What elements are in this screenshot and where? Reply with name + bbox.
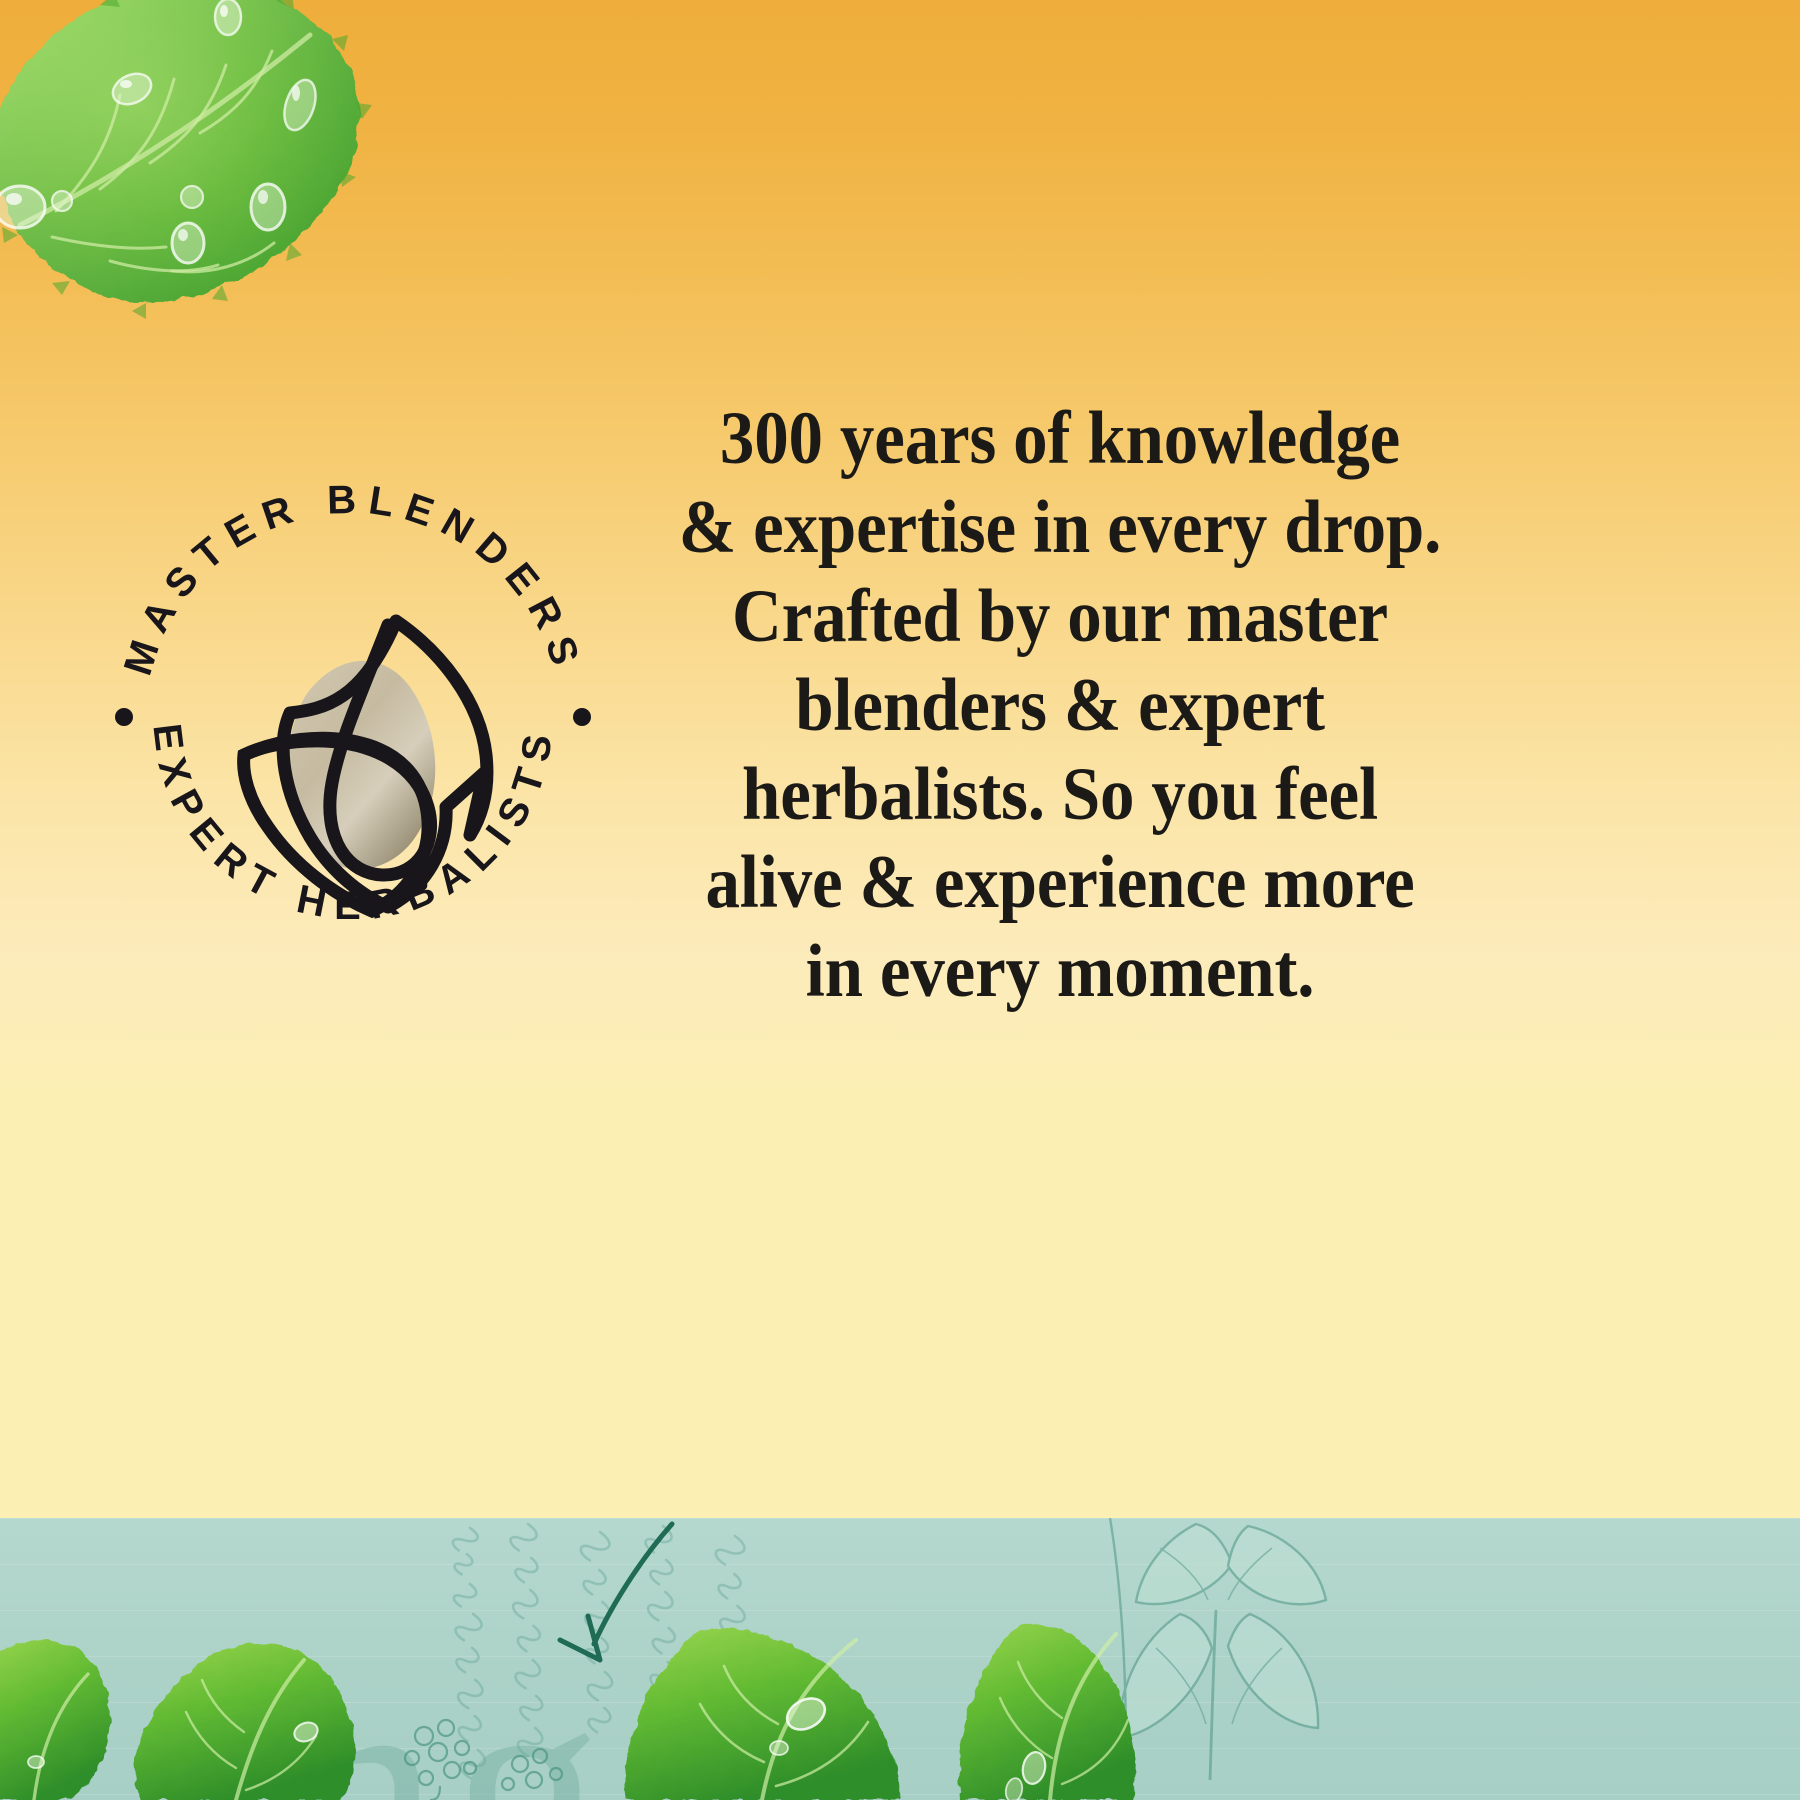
band-mint-leaves (0, 1623, 1135, 1800)
copy-line-7: in every moment. (655, 928, 1465, 1017)
master-blenders-badge: MASTER BLENDERS EXPERT HERBALISTS (88, 455, 618, 985)
badge-separator-dot-right (573, 708, 591, 726)
copy-line-2: & expertise in every drop. (655, 484, 1465, 573)
copy-line-4: blenders & expert (655, 662, 1465, 751)
marketing-copy: 300 years of knowledge & expertise in ev… (655, 395, 1465, 1017)
badge-separator-dot-left (115, 708, 133, 726)
copy-line-3: Crafted by our master (655, 573, 1465, 662)
copy-line-1: 300 years of knowledge (655, 395, 1465, 484)
bottom-teal-band: ng (0, 1518, 1800, 1800)
botanical-sketch (1110, 1518, 1326, 1780)
promo-card: MASTER BLENDERS EXPERT HERBALISTS 300 ye… (0, 0, 1800, 1800)
copy-line-6: alive & experience more (655, 839, 1465, 928)
badge-top-arc-text: MASTER BLENDERS (116, 478, 590, 681)
copy-line-5: herbalists. So you feel (655, 751, 1465, 840)
